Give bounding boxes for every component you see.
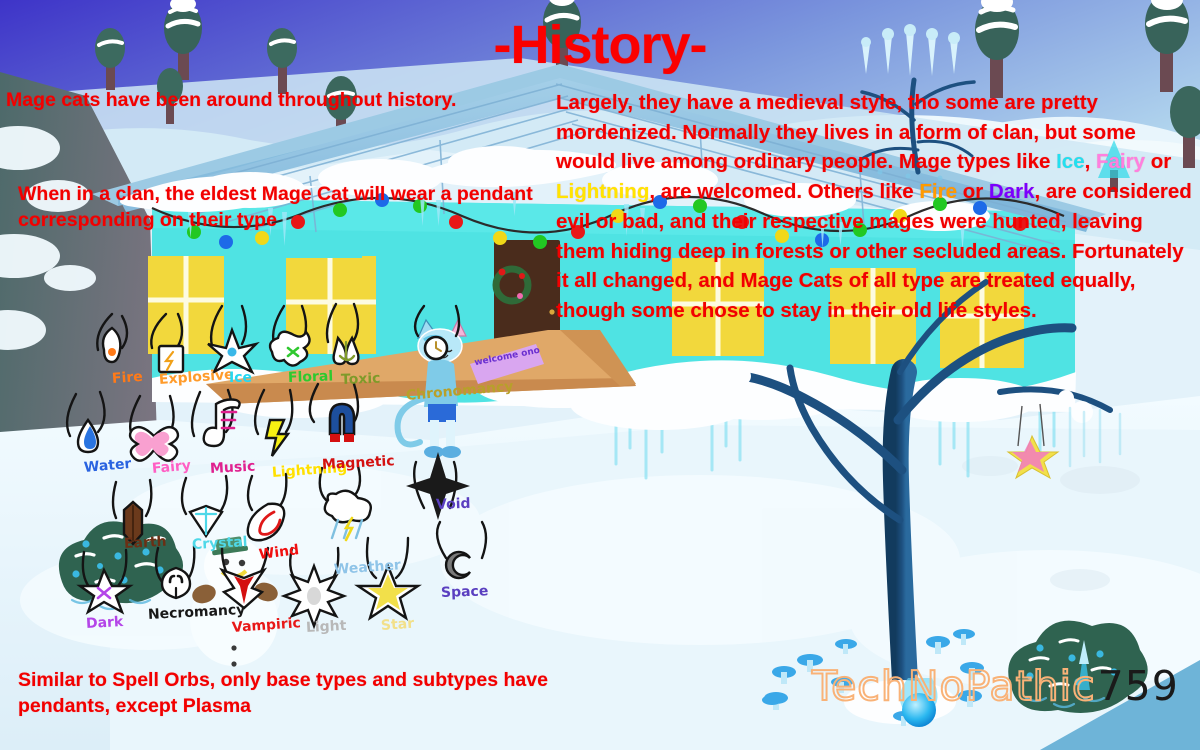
text-segment-body-2: , (1085, 150, 1096, 173)
pendant-label-crystal: Crystal (192, 534, 248, 553)
text-segment-body-8: or (957, 180, 989, 203)
text-segment-dark: Dark (989, 180, 1035, 203)
paragraph-bottom: Similar to Spell Orbs, only base types a… (18, 668, 618, 720)
pendant-label-void: Void (436, 496, 471, 513)
page-title: -History- (0, 14, 1200, 76)
text-segment-body-4: or (1145, 150, 1171, 173)
watermark-number: 759 (1098, 662, 1179, 710)
text-segment-fairy: Fairy (1096, 150, 1145, 173)
pendant-label-floral: Floral (288, 368, 334, 386)
paragraph-left-top: Mage cats have been around throughout hi… (6, 88, 554, 114)
artist-watermark: TechNoPathic759 (812, 662, 1179, 710)
text-segment-lightning: Lightning (556, 180, 649, 203)
pendant-label-toxic: Toxic (341, 371, 381, 388)
pendant-label-ice: Ice (229, 370, 252, 386)
text-segment-ice: Ice (1056, 150, 1085, 173)
pendant-label-dark: Dark (86, 614, 124, 632)
paragraph-left-middle: When in a clan, the eldest Mage Cat will… (18, 182, 554, 234)
pendant-label-light: Light (306, 618, 347, 636)
pendant-label-earth: Earth (124, 534, 167, 552)
illustration-canvas: -History- Mage cats have been around thr… (0, 0, 1200, 750)
paragraph-right: Largely, they have a medieval style, tho… (556, 88, 1192, 326)
text-segment-body-0: Largely, they have a medieval style, tho… (556, 91, 1136, 173)
pendant-label-space: Space (441, 583, 489, 601)
pendant-label-star: Star (380, 616, 414, 634)
pendant-label-fire: Fire (111, 369, 143, 387)
text-segment-fire: Fire (919, 180, 957, 203)
text-segment-body-6: , are welcomed. Others like (649, 180, 919, 203)
pendant-label-music: Music (210, 459, 256, 477)
watermark-name: TechNoPathic (812, 662, 1096, 710)
pendant-label-fairy: Fairy (151, 458, 191, 477)
